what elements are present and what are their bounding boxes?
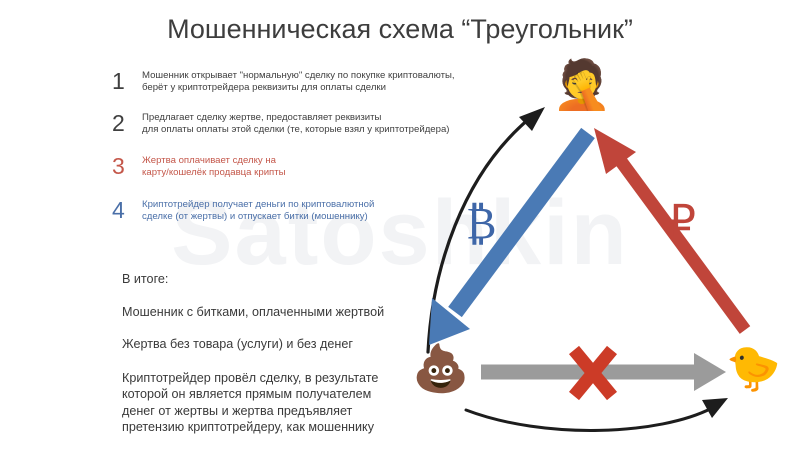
bitcoin-symbol-label: ₿ <box>466 202 496 246</box>
pile-of-poo-emoji: 💩 <box>412 345 469 391</box>
step-number: 3 <box>112 155 142 178</box>
step-item-3: 3 Жертва оплачивает сделку на карту/коше… <box>112 155 412 180</box>
cross-icon <box>574 350 612 396</box>
step-text: Криптотрейдер получает деньги по криптов… <box>142 199 374 224</box>
step-number: 1 <box>112 70 142 93</box>
summary-heading: В итоге: <box>122 272 442 288</box>
step-text: Предлагает сделку жертве, предоставляет … <box>142 112 450 137</box>
step-item-1: 1 Мошенник открывает "нормальную" сделку… <box>112 70 472 95</box>
page-title: Мошенническая схема “Треугольник” <box>0 14 800 45</box>
baby-chick-emoji: 🐤 <box>726 347 781 391</box>
step-number: 4 <box>112 199 142 222</box>
step-number: 2 <box>112 112 142 135</box>
slide-canvas: Satoshkin Мошенническая схема “Треугольн… <box>0 0 800 450</box>
step-text: Жертва оплачивает сделку на карту/кошелё… <box>142 155 286 180</box>
summary-paragraph: Криптотрейдер провёл сделку, в результат… <box>122 370 442 436</box>
step-item-4: 4 Криптотрейдер получает деньги по крипт… <box>112 199 472 224</box>
summary-line: Жертва без товара (услуги) и без денег <box>122 337 442 353</box>
ruble-symbol-label: ₽ <box>668 200 696 244</box>
step-item-2: 2 Предлагает сделку жертве, предоставляе… <box>112 112 512 137</box>
blocked-goods-arrow <box>481 353 726 391</box>
summary-block: В итоге: Мошенник с битками, оплаченными… <box>122 272 442 436</box>
step-text: Мошенник открывает "нормальную" сделку п… <box>142 70 455 95</box>
facepalm-emoji: 🤦 <box>552 62 612 110</box>
summary-line: Мошенник с битками, оплаченными жертвой <box>122 305 442 321</box>
claim-arrow-bottom <box>466 398 728 430</box>
